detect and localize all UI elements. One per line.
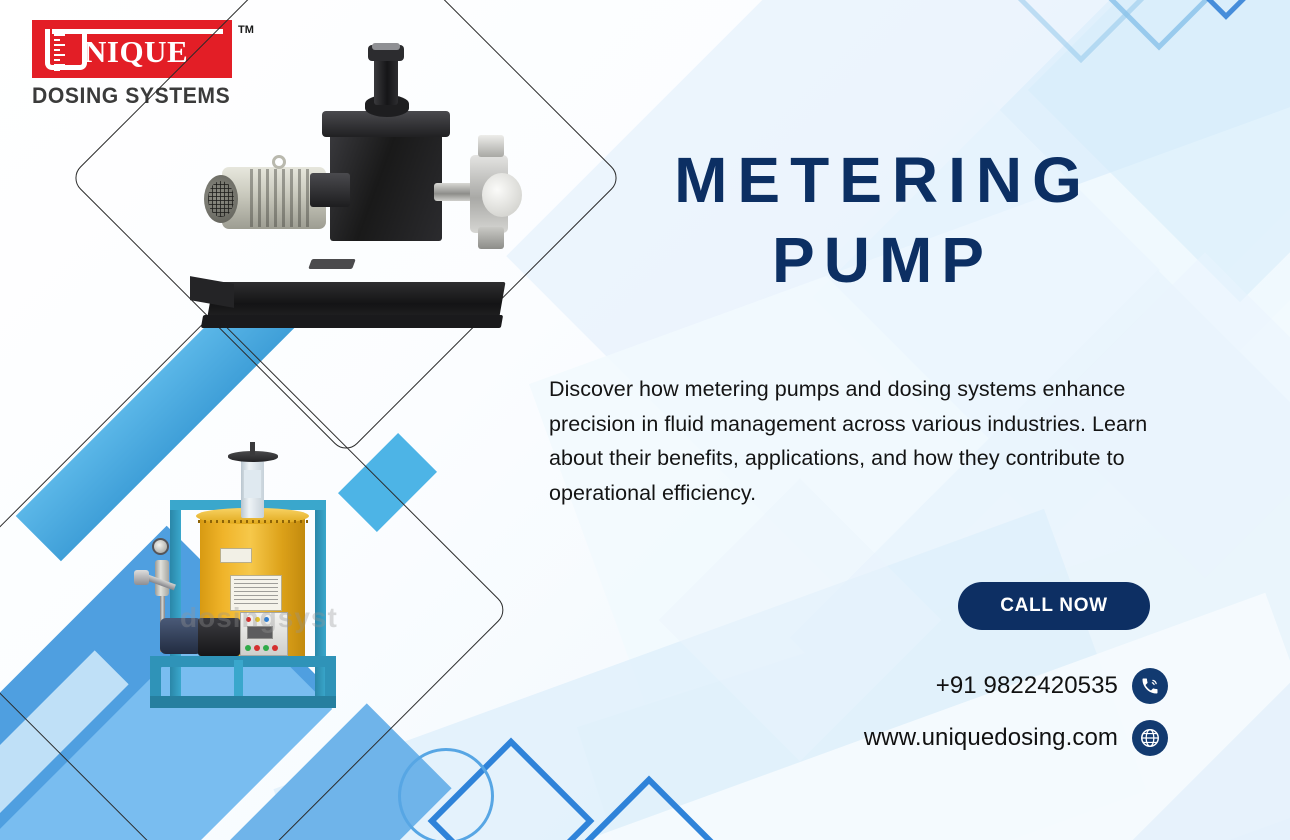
- phone-contact-row[interactable]: +91 9822420535: [548, 668, 1168, 704]
- page-title-line-1: METERING: [548, 140, 1208, 220]
- skid-frame-mid-rail: [150, 656, 336, 667]
- panel-button-aux1: [263, 645, 269, 651]
- logo-wordmark: NIQUE: [84, 34, 188, 70]
- pump-knob-top: [372, 43, 400, 50]
- pump-base-foot: [190, 276, 234, 308]
- phone-call-icon[interactable]: [1132, 668, 1168, 704]
- pump-base-lip: [201, 315, 503, 328]
- panel-button-start: [245, 645, 251, 651]
- poster-canvas: NIQUE TM DOSING SYSTEMS: [0, 0, 1290, 840]
- pressure-gauge: [152, 538, 169, 555]
- motor-cooling-fins: [250, 169, 310, 227]
- calibration-column-rod: [250, 442, 255, 456]
- tank-nameplate: [220, 548, 252, 563]
- pump-diaphragm-head: [482, 173, 522, 217]
- isolation-valve: [134, 570, 149, 585]
- panel-button-aux2: [272, 645, 278, 651]
- photo-watermark: dosingsyst: [180, 602, 338, 634]
- panel-button-stop: [254, 645, 260, 651]
- page-title-line-2: PUMP: [548, 220, 1208, 300]
- call-now-button[interactable]: CALL NOW: [958, 582, 1150, 630]
- motor-fan-grill: [208, 181, 234, 217]
- dosing-system-photo: dosingsyst: [122, 420, 377, 745]
- pump-coupling: [310, 173, 350, 207]
- beaker-graduations-icon: [54, 34, 70, 64]
- motor-lifting-eye: [272, 155, 286, 169]
- tank-flange-bolts: [198, 520, 308, 523]
- page-title: METERING PUMP: [548, 140, 1208, 300]
- globe-icon[interactable]: [1132, 720, 1168, 756]
- bg-circle-outline: [398, 748, 494, 840]
- pump-nameplate: [308, 259, 356, 269]
- calibration-column-scale: [244, 470, 261, 498]
- content-column: METERING PUMP Discover how metering pump…: [548, 0, 1208, 840]
- phone-number: +91 9822420535: [936, 672, 1118, 700]
- website-url: www.uniquedosing.com: [864, 724, 1118, 752]
- pump-discharge-flange: [478, 135, 504, 157]
- pump-suction-flange: [478, 227, 504, 249]
- skid-frame-base-rail: [150, 696, 336, 708]
- metering-pump-photo: [182, 55, 527, 330]
- website-contact-row[interactable]: www.uniquedosing.com: [548, 720, 1168, 756]
- description-paragraph: Discover how metering pumps and dosing s…: [549, 372, 1197, 510]
